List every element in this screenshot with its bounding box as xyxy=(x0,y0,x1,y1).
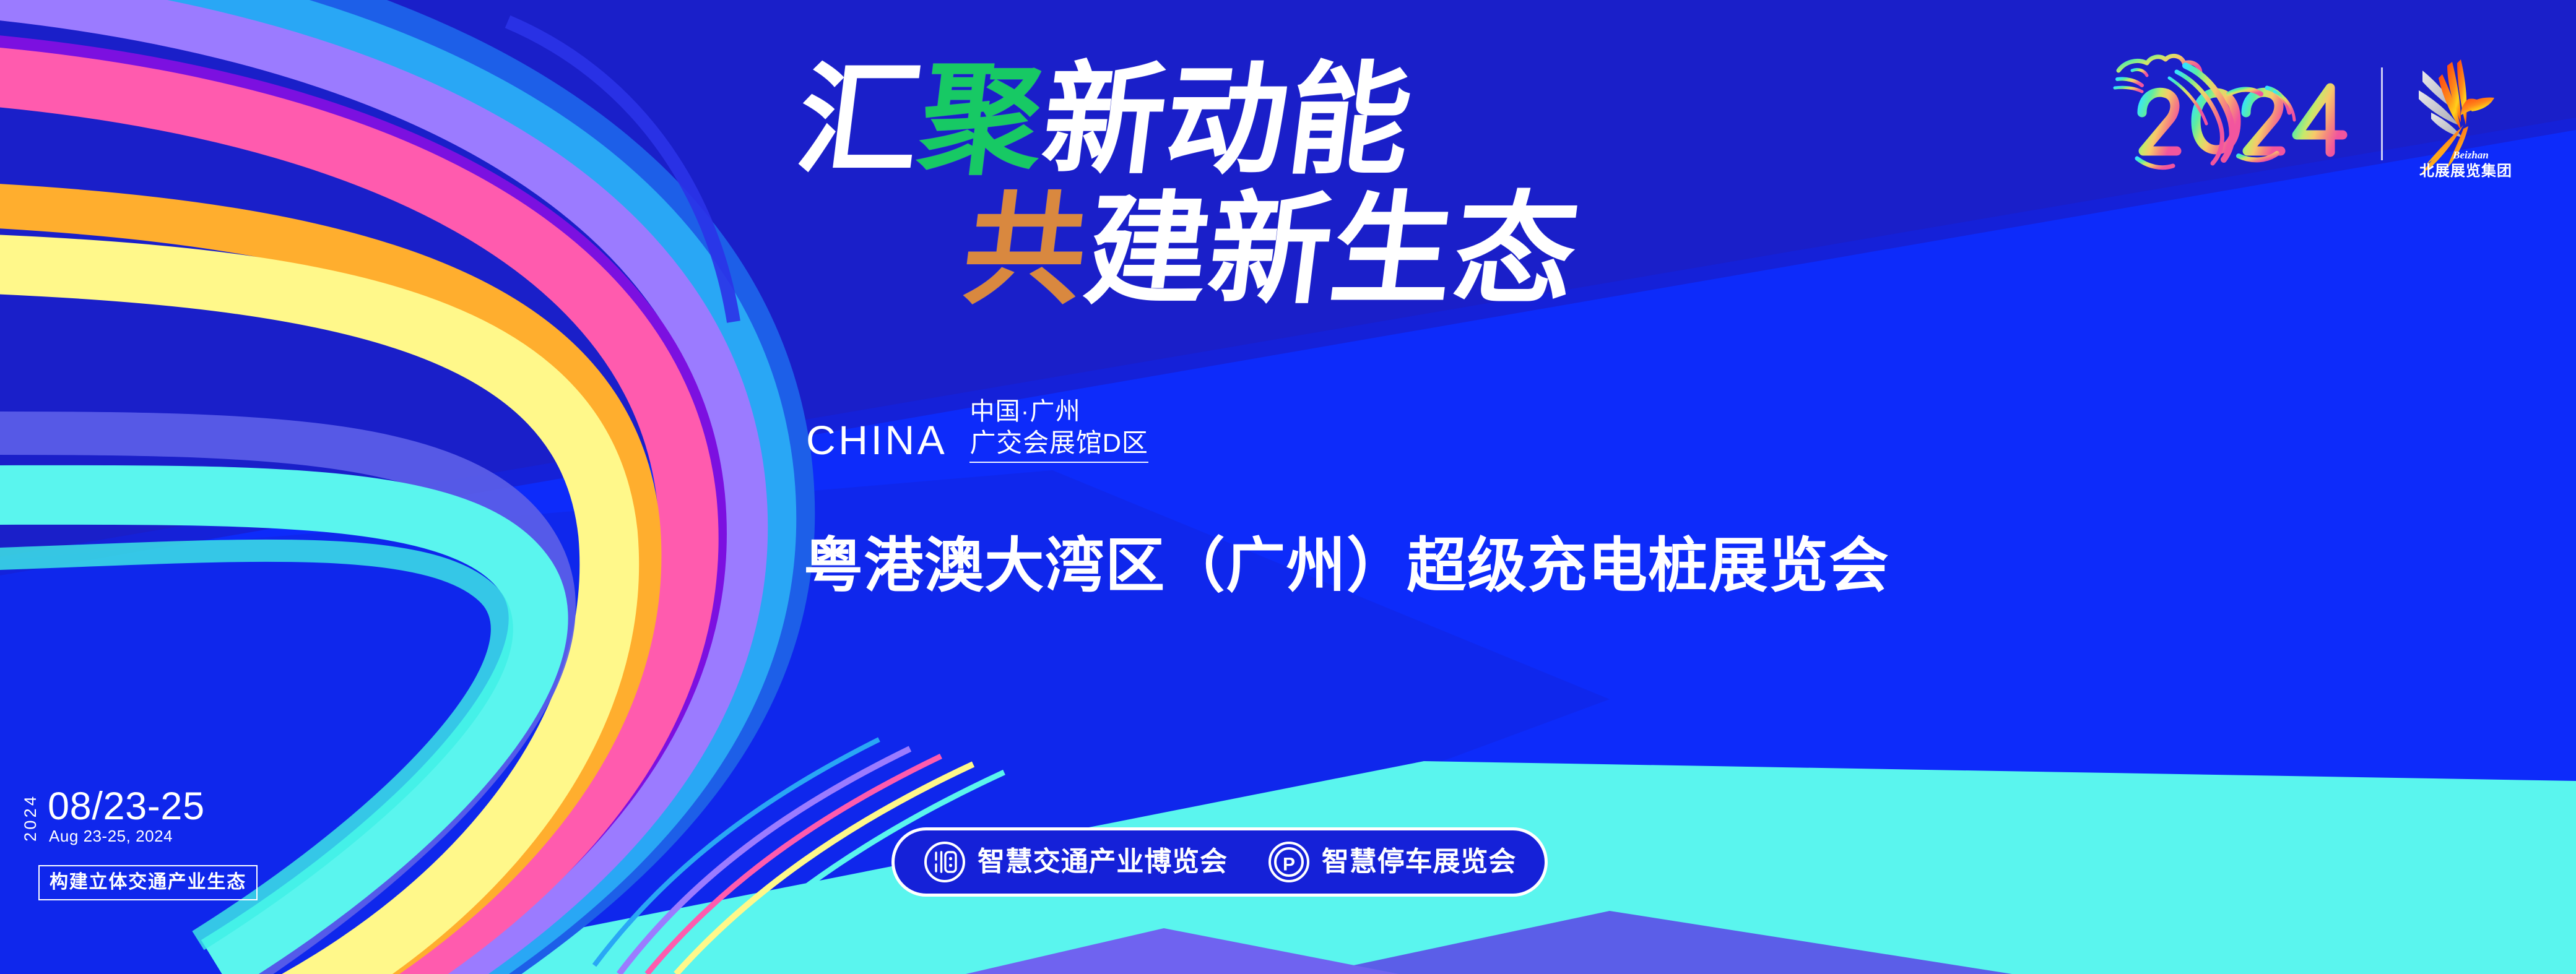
headline-line-2: 共建新生态 xyxy=(957,189,2045,312)
headline-l2-rest: 建新生态 xyxy=(1079,183,1586,318)
date-secondary: Aug 23-25, 2024 xyxy=(48,828,205,844)
country-label: CHINA xyxy=(806,420,947,463)
date-row: 2024 08/23-25 Aug 23-25, 2024 xyxy=(22,786,258,850)
svg-text:P: P xyxy=(1283,855,1295,875)
date-main-column: 08/23-25 Aug 23-25, 2024 xyxy=(48,786,205,850)
headline-l1-seg2: 新动能 xyxy=(1036,53,1420,188)
logo-zone: Beizhan 北展展览集团 xyxy=(2112,43,2528,184)
headline-block: 汇聚新动能 共建新生态 xyxy=(799,59,2037,312)
sub-exhibition-item-parking[interactable]: P 智慧停车展览会 xyxy=(1267,840,1516,884)
dragon-2024-icon xyxy=(2112,43,2360,184)
organizer-name-cn: 北展展览集团 xyxy=(2419,162,2512,179)
date-primary: 08/23-25 xyxy=(48,786,205,827)
venue-city: 中国·广州 xyxy=(969,399,1080,424)
sub-exhibition-item-traffic[interactable]: 智慧交通产业博览会 xyxy=(923,840,1228,884)
organizer-logo: Beizhan 北展展览集团 xyxy=(2404,46,2528,182)
sub-exhibitions-pill: 智慧交通产业博览会 P 智慧停车展览会 xyxy=(891,827,1548,897)
sub-exhibition-label-traffic: 智慧交通产业博览会 xyxy=(978,848,1228,876)
parking-p-icon: P xyxy=(1267,840,1311,884)
headline-line-1: 汇聚新动能 xyxy=(791,59,2045,183)
organizer-name-en: Beizhan xyxy=(2452,149,2489,161)
sub-exhibition-label-parking: 智慧停车展览会 xyxy=(1322,848,1516,876)
year-vertical-label: 2024 xyxy=(22,786,39,850)
exhibition-subtitle: 粤港澳大湾区（广州）超级充电桩展览会 xyxy=(804,533,1889,599)
logo-divider xyxy=(2381,67,2383,160)
tagline-box: 构建立体交通产业生态 xyxy=(38,865,258,900)
location-row: CHINA 中国·广州 广交会展馆D区 xyxy=(806,399,1148,463)
venue-column: 中国·广州 广交会展馆D区 xyxy=(969,399,1148,463)
road-traffic-icon xyxy=(923,840,966,884)
date-block: 2024 08/23-25 Aug 23-25, 2024 构建立体交通产业生态 xyxy=(22,786,258,900)
exhibition-banner: 汇聚新动能 共建新生态 CHINA 中国·广州 广交会展馆D区 粤港澳大湾区（广… xyxy=(0,0,2576,974)
headline-l2-accent-char: 共 xyxy=(956,183,1096,318)
phoenix-icon: Beizhan 北展展览集团 xyxy=(2404,46,2528,182)
headline-l1-accent-char: 聚 xyxy=(913,53,1052,188)
headline-l1-seg1: 汇 xyxy=(791,53,930,188)
venue-hall: 广交会展馆D区 xyxy=(969,430,1148,463)
